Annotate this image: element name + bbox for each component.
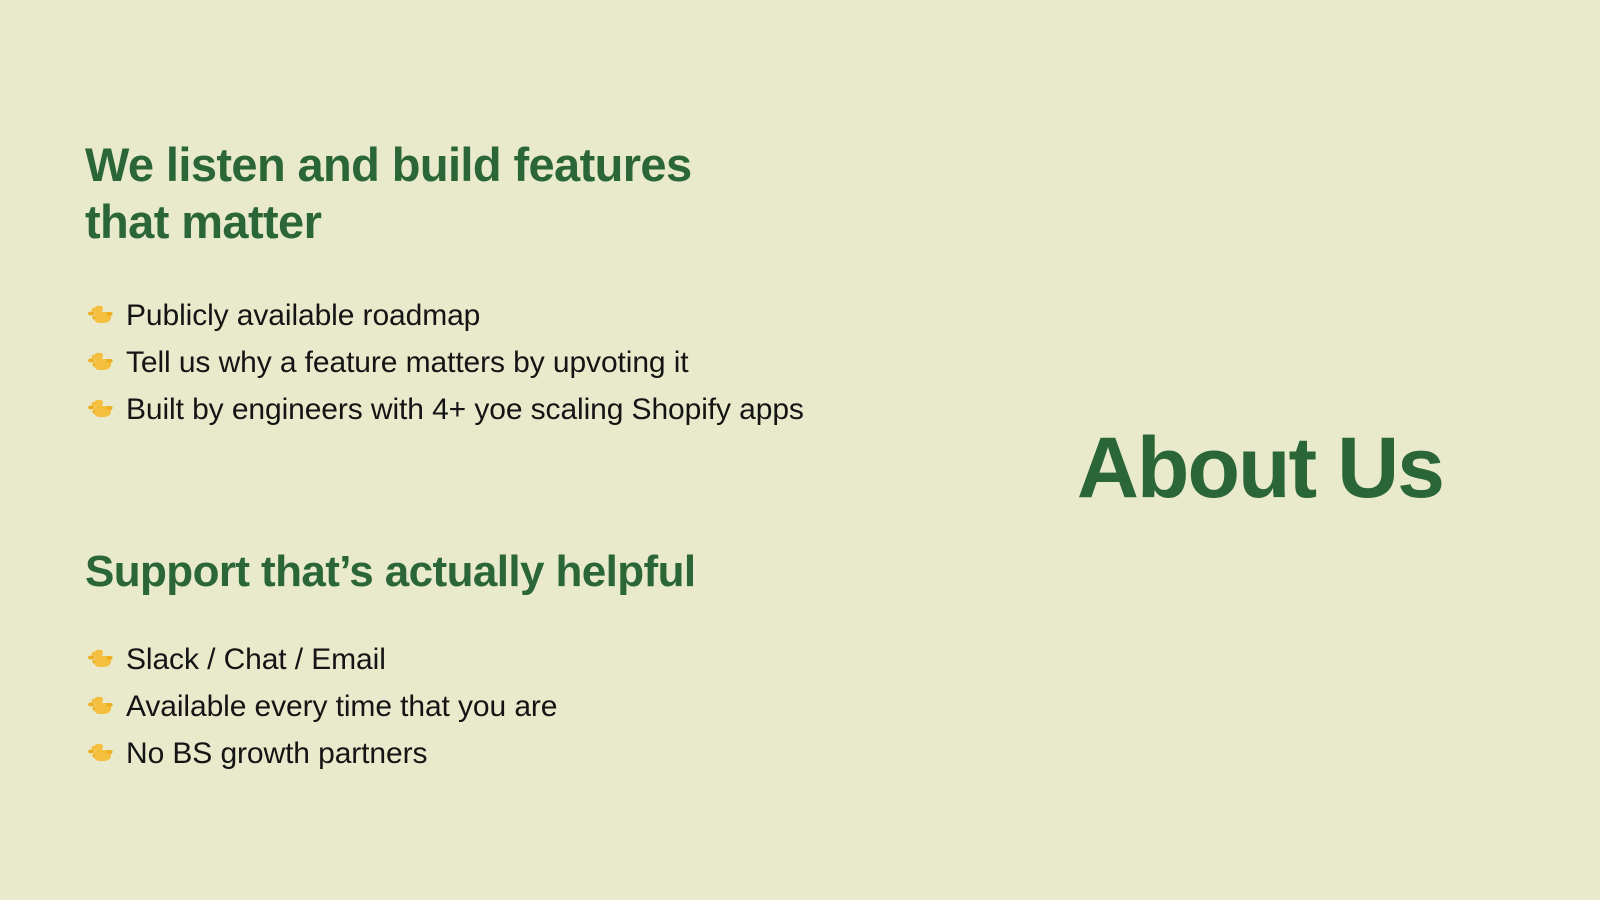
- pointing-right-hand-icon: [85, 299, 115, 329]
- list-item: Tell us why a feature matters by upvotin…: [85, 339, 965, 386]
- section-heading-features: We listen and build features that matter: [85, 136, 965, 250]
- list-item: No BS growth partners: [85, 730, 965, 777]
- support-bullet-list: Slack / Chat / Email Available every tim…: [85, 636, 965, 777]
- list-item-label: Tell us why a feature matters by upvotin…: [126, 339, 689, 386]
- section-divider-space: [85, 433, 965, 546]
- list-item-label: Built by engineers with 4+ yoe scaling S…: [126, 386, 804, 433]
- list-item-label: Publicly available roadmap: [126, 292, 480, 339]
- pointing-right-hand-icon: [85, 346, 115, 376]
- content-column: We listen and build features that matter…: [85, 136, 965, 777]
- about-us-slide: We listen and build features that matter…: [0, 0, 1600, 900]
- list-item-label: No BS growth partners: [126, 730, 427, 777]
- pointing-right-hand-icon: [85, 643, 115, 673]
- list-item: Publicly available roadmap: [85, 292, 965, 339]
- list-item: Slack / Chat / Email: [85, 636, 965, 683]
- list-item: Built by engineers with 4+ yoe scaling S…: [85, 386, 965, 433]
- pointing-right-hand-icon: [85, 690, 115, 720]
- section-heading-support: Support that’s actually helpful: [85, 546, 965, 598]
- pointing-right-hand-icon: [85, 393, 115, 423]
- page-title: About Us: [1077, 420, 1443, 516]
- pointing-right-hand-icon: [85, 737, 115, 767]
- feature-bullet-list: Publicly available roadmap Tell us why a…: [85, 292, 965, 433]
- list-item: Available every time that you are: [85, 683, 965, 730]
- list-item-label: Available every time that you are: [126, 683, 557, 730]
- list-item-label: Slack / Chat / Email: [126, 636, 386, 683]
